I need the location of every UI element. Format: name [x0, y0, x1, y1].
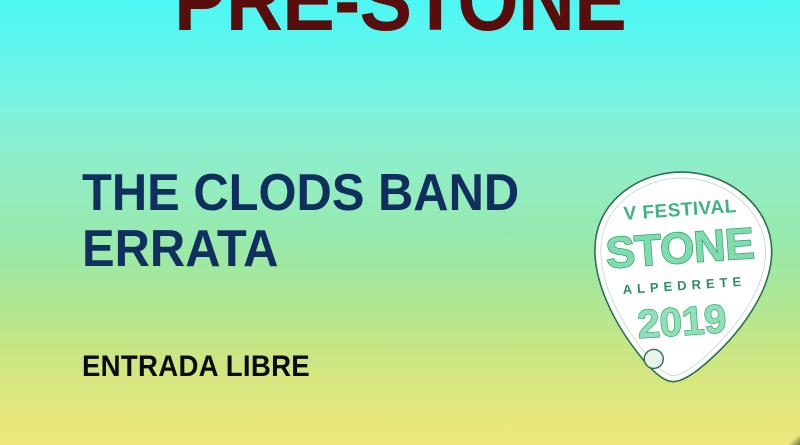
lineup-item-1: THE CLODS BAND	[82, 168, 552, 218]
pick-shape	[584, 165, 778, 390]
lineup-item-2: ERRATA	[82, 224, 552, 274]
festival-poster: PRE-STONE THE CLODS BAND ERRATA ENTRADA …	[0, 0, 800, 445]
lineup-list: THE CLODS BAND ERRATA	[82, 168, 582, 281]
poster-headline: PRE-STONE	[32, 0, 768, 44]
corner-artifact	[786, 436, 800, 445]
guitar-pick-badge: V FESTIVAL STONE ALPEDRETE 2019	[588, 168, 774, 386]
pick-hole	[643, 349, 664, 370]
admission-note: ENTRADA LIBRE	[82, 352, 310, 382]
